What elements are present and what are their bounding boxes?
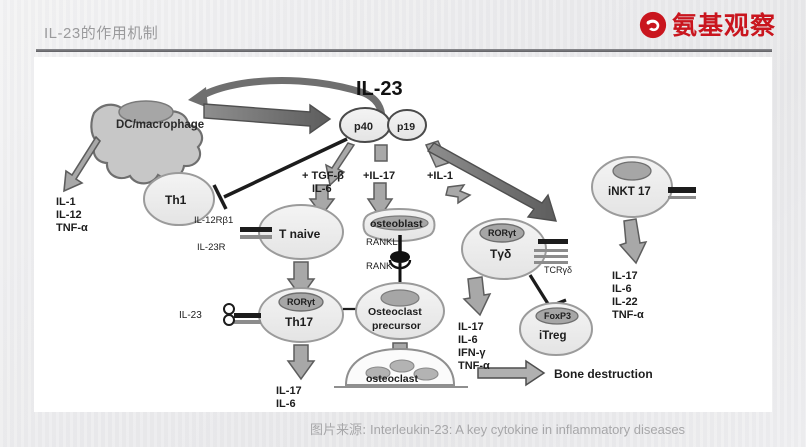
dc-cytokine-0: IL-1 bbox=[56, 196, 76, 208]
label-tgfb: + TGF-β bbox=[302, 170, 344, 182]
dc-cytokine-list: IL-1 IL-12 TNF-α bbox=[56, 196, 88, 234]
label-il23: IL-23 bbox=[356, 78, 403, 100]
inkt17-cell: iNKT 17 bbox=[592, 157, 696, 217]
source-text: Interleukin-23: A key cytokine in inflam… bbox=[370, 422, 685, 437]
il23-pathway-diagram: DC/macrophage IL-23 p40 p19 bbox=[34, 57, 772, 412]
header-divider bbox=[36, 49, 772, 52]
label-tgd: Tγδ bbox=[490, 247, 511, 261]
label-il23r: IL-23R bbox=[197, 242, 226, 253]
label-itreg: iTreg bbox=[539, 330, 566, 342]
dc-cytokine-2: TNF-α bbox=[56, 222, 88, 234]
t-naive-cell: T naive IL-12Rβ1 IL-23R bbox=[194, 205, 343, 259]
slide-header: IL-23的作用机制 氨基观察 bbox=[0, 0, 806, 55]
inkt-cytokine-1: IL-6 bbox=[612, 283, 632, 295]
label-th1: Th1 bbox=[165, 193, 187, 207]
page-title: IL-23的作用机制 bbox=[44, 22, 158, 43]
arrow-dc-to-il23 bbox=[204, 104, 330, 133]
label-inkt17: iNKT 17 bbox=[608, 186, 651, 198]
osteoclast-cell: osteoclast bbox=[334, 349, 468, 387]
label-p40: p40 bbox=[354, 121, 373, 133]
label-p19: p19 bbox=[397, 121, 415, 133]
inkt-cytokine-3: TNF-α bbox=[612, 309, 644, 321]
label-tgd-tf: RORγt bbox=[488, 228, 516, 238]
dc-cytokine-1: IL-12 bbox=[56, 209, 82, 221]
label-il6: IL-6 bbox=[312, 183, 332, 195]
inkt-cytokine-0: IL-17 bbox=[612, 270, 638, 282]
label-th17: Th17 bbox=[285, 315, 313, 329]
arrow-dc-cytokines bbox=[64, 137, 100, 191]
th17-cytokine-0: IL-17 bbox=[276, 385, 302, 397]
slide: IL-23的作用机制 氨基观察 bbox=[0, 0, 806, 447]
th17-cell: RORγt Th17 IL-23 bbox=[179, 288, 386, 342]
label-rankl: RANKL bbox=[366, 237, 398, 248]
label-itreg-tf: FoxP3 bbox=[544, 311, 571, 321]
source-label: 图片来源: bbox=[310, 423, 366, 438]
th17-cytokine-list: IL-17 IL-6 IL-22 TNF-α bbox=[276, 385, 308, 412]
label-osteoclast: osteoclast bbox=[366, 373, 418, 385]
label-bone-destruction: Bone destruction bbox=[554, 367, 653, 381]
figure-source-caption: 图片来源: Interleukin-23: A key cytokine in … bbox=[310, 419, 685, 438]
label-t-naive: T naive bbox=[279, 227, 321, 241]
label-plus-il17: +IL-17 bbox=[363, 170, 395, 182]
label-il23-ligand: IL-23 bbox=[179, 310, 202, 321]
label-osteoblast: osteoblast bbox=[370, 218, 423, 230]
arrow-tgd-cytokines bbox=[464, 277, 490, 315]
osteoblast-cell: osteoblast RANKL RANK bbox=[364, 209, 435, 283]
label-osteoclast-precursor-2: precursor bbox=[372, 320, 421, 332]
tgd-cytokine-2: IFN-γ bbox=[458, 347, 486, 359]
label-il12rb1: IL-12Rβ1 bbox=[194, 215, 233, 226]
th17-cytokine-2: IL-22 bbox=[276, 411, 302, 412]
label-th17-tf: RORγt bbox=[287, 297, 315, 307]
arrow-inkt-cytokines bbox=[620, 219, 646, 263]
label-tcr-gd: TCRγδ bbox=[544, 265, 572, 275]
arrow-il23-to-inkt bbox=[428, 143, 556, 221]
tgd-cytokine-0: IL-17 bbox=[458, 321, 484, 333]
osteoclast-precursor-cell: Osteoclast precursor bbox=[356, 283, 444, 339]
circular-emblem-icon bbox=[639, 11, 667, 39]
tgd-cytokine-1: IL-6 bbox=[458, 334, 478, 346]
label-plus-il1: +IL-1 bbox=[427, 170, 453, 182]
figure-panel: DC/macrophage IL-23 p40 p19 bbox=[34, 57, 772, 412]
inkt-cytokine-list: IL-17 IL-6 IL-22 TNF-α bbox=[612, 270, 644, 321]
arrow-th17-cytokines bbox=[288, 345, 314, 379]
label-dc-macrophage: DC/macrophage bbox=[116, 119, 204, 131]
tgd-cell: RORγt Tγδ TCRγδ bbox=[462, 219, 572, 279]
label-osteoclast-precursor-1: Osteoclast bbox=[368, 306, 422, 318]
brand-logo-text: 氨基观察 bbox=[672, 13, 776, 38]
itreg-cell: FoxP3 iTreg bbox=[520, 303, 592, 355]
inkt-cytokine-2: IL-22 bbox=[612, 296, 638, 308]
th17-cytokine-1: IL-6 bbox=[276, 398, 296, 410]
dc-macrophage-cell: DC/macrophage bbox=[91, 101, 204, 183]
label-rank: RANK bbox=[366, 261, 393, 272]
tgd-cytokine-3: TNF-α bbox=[458, 360, 490, 372]
brand-logo: 氨基观察 bbox=[639, 8, 776, 42]
tgd-cytokine-list: IL-17 IL-6 IFN-γ TNF-α bbox=[458, 321, 490, 372]
